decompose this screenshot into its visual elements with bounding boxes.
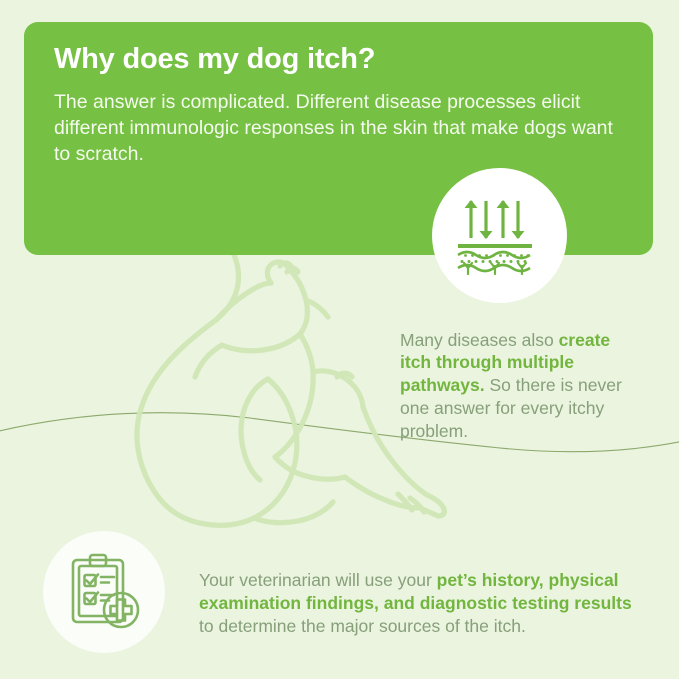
clipboard-checklist-medical-icon — [62, 550, 146, 634]
infographic-page: Why does my dog itch? The answer is comp… — [0, 0, 679, 679]
skin-pathways-paragraph: Many diseases also create itch through m… — [400, 329, 632, 443]
header-body-text: The answer is complicated. Different dis… — [54, 90, 623, 168]
vet-text-part-1: Your veterinarian will use your — [199, 570, 437, 590]
veterinarian-diagnostics-paragraph: Your veterinarian will use your pet’s hi… — [199, 569, 639, 638]
skin-text-part-1: Many diseases also — [400, 330, 559, 350]
page-title: Why does my dog itch? — [54, 44, 623, 76]
clipboard-icon-badge — [43, 531, 165, 653]
skin-layers-arrows-icon — [452, 188, 548, 284]
skin-icon-badge — [432, 168, 567, 303]
vet-text-part-2: to determine the major sources of the it… — [199, 616, 526, 636]
